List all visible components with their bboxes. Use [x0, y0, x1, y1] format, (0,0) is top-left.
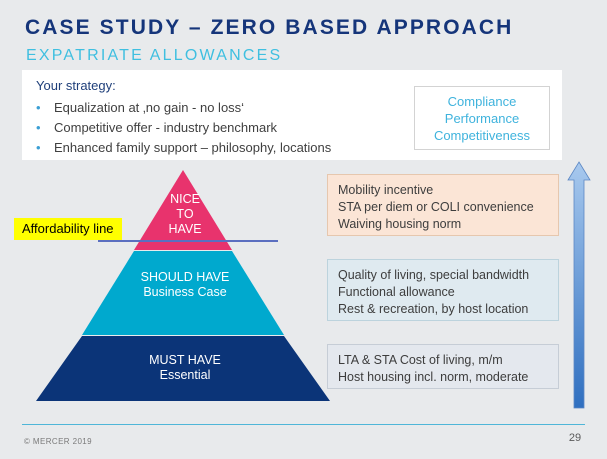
callout-line: Functional allowance [338, 284, 548, 301]
slide-canvas: CASE STUDY – ZERO BASED APPROACH EXPATRI… [0, 0, 607, 459]
page-number: 29 [563, 432, 587, 444]
pyramid-shape [30, 165, 340, 410]
bullet-text: Competitive offer - industry benchmark [54, 118, 277, 138]
footer-divider [22, 424, 585, 425]
up-arrow-icon [566, 160, 592, 410]
callout-line: Host housing incl. norm, moderate [338, 369, 548, 386]
page-subtitle: EXPATRIATE ALLOWANCES [26, 47, 282, 65]
list-item: • Equalization at ‚no gain - no loss‘ [36, 98, 416, 118]
strategy-bullet-list: • Equalization at ‚no gain - no loss‘ • … [36, 98, 416, 158]
callout-box-must-have: LTA & STA Cost of living, m/m Host housi… [327, 344, 559, 389]
bullet-dot-icon: • [36, 118, 54, 138]
callout-box-nice-to-have: Mobility incentive STA per diem or COLI … [327, 174, 559, 236]
callout-line: LTA & STA Cost of living, m/m [338, 352, 548, 369]
affordability-line-label: Affordability line [14, 218, 122, 240]
three-c-line: Competitiveness [434, 127, 530, 144]
bullet-dot-icon: • [36, 138, 54, 158]
list-item: • Enhanced family support – philosophy, … [36, 138, 416, 158]
callout-line: Mobility incentive [338, 182, 548, 199]
strategy-heading: Your strategy: [36, 78, 116, 93]
footer-copyright: © MERCER 2019 [24, 437, 92, 446]
three-c-line: Compliance [448, 93, 517, 110]
callout-line: STA per diem or COLI convenience [338, 199, 548, 216]
bullet-text: Equalization at ‚no gain - no loss‘ [54, 98, 244, 118]
callout-line: Quality of living, special bandwidth [338, 267, 548, 284]
three-c-line: Performance [445, 110, 519, 127]
bullet-text: Enhanced family support – philosophy, lo… [54, 138, 331, 158]
callout-box-should-have: Quality of living, special bandwidth Fun… [327, 259, 559, 321]
page-title: CASE STUDY – ZERO BASED APPROACH [25, 16, 513, 40]
pyramid-band-should [82, 251, 284, 335]
callout-line: Rest & recreation, by host location [338, 301, 548, 318]
pyramid-band-must [36, 336, 330, 401]
affordability-line [98, 240, 278, 242]
bullet-dot-icon: • [36, 98, 54, 118]
pyramid-diagram: NICE TO HAVE SHOULD HAVE Business Case M… [30, 165, 340, 410]
callout-line: Waiving housing norm [338, 216, 548, 233]
pyramid-band-nice [134, 170, 232, 250]
three-c-box: Compliance Performance Competitiveness [414, 86, 550, 150]
list-item: • Competitive offer - industry benchmark [36, 118, 416, 138]
